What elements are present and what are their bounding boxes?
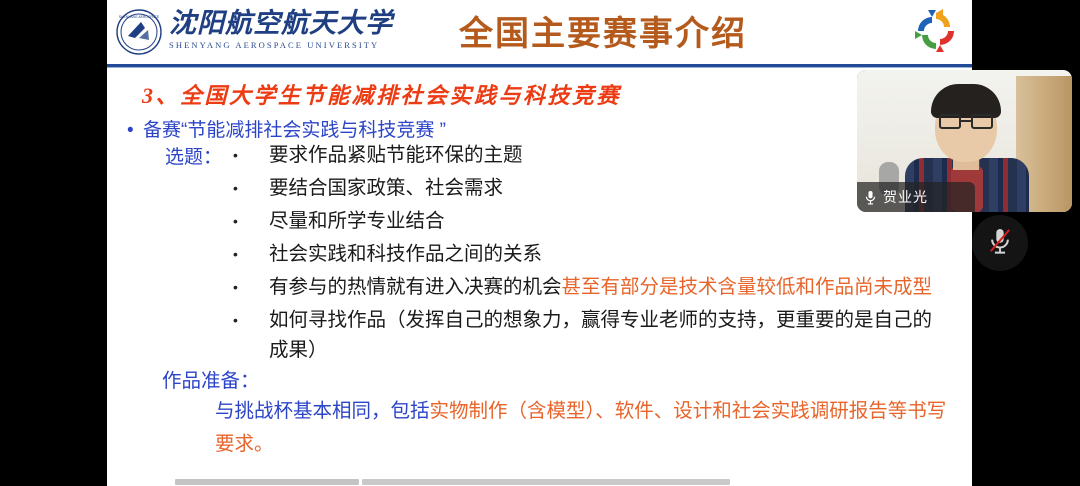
list-item-text: 要求作品紧贴节能环保的主题 (269, 140, 523, 170)
list-item-text: 要结合国家政策、社会需求 (269, 173, 503, 203)
screen-root: SHENYANG AEROSPACE 沈阳航空航天大学 SHENYANG AER… (0, 0, 1080, 486)
presentation-slide[interactable]: SHENYANG AEROSPACE 沈阳航空航天大学 SHENYANG AER… (107, 0, 972, 462)
list-item: • 要结合国家政策、社会需求 (227, 173, 947, 203)
participant-name-bar: 贺业光 (857, 182, 975, 212)
svg-text:SHENYANG AEROSPACE: SHENYANG AEROSPACE (119, 15, 160, 19)
participant-video-tile[interactable]: 贺业光 (857, 70, 1072, 212)
university-name-en: SHENYANG AEROSPACE UNIVERSITY (169, 40, 447, 50)
university-name-cn: 沈阳航空航天大学 (169, 8, 447, 39)
mute-toggle-button[interactable] (972, 215, 1028, 271)
topic-label: 选题： (165, 142, 222, 169)
bullet-dot-icon: • (227, 206, 269, 236)
preparation-label: 作品准备： (162, 364, 260, 393)
list-item: • 要求作品紧贴节能环保的主题 (227, 140, 947, 170)
header-rule-thin (107, 67, 972, 68)
list-item-text: 有参与的热情就有进入决赛的机会甚至有部分是技术含量较低和作品尚未成型 (269, 272, 932, 302)
bottom-bar-right[interactable] (362, 479, 730, 485)
video-person-glasses (939, 114, 993, 129)
preparation-text-blue: 与挑战杯基本相同，包括 (215, 400, 430, 422)
bullet-dot-icon: • (227, 173, 269, 203)
slide-body: 3、全国大学生节能减排社会实践与科技竞赛 •备赛“节能减排社会实践与科技竞赛 ”… (107, 70, 972, 462)
bullet-lead-text: 备赛“节能减排社会实践与科技竞赛 ” (143, 120, 446, 141)
microphone-muted-icon (988, 227, 1012, 260)
section-heading: 3、全国大学生节能减排社会实践与科技竞赛 (142, 78, 621, 110)
pinwheel-arrows-logo-icon (910, 5, 962, 57)
right-edge-letterbox (1074, 0, 1080, 486)
bullet-dot-icon: • (227, 239, 269, 269)
slide-title: 全国主要赛事介绍 (459, 6, 747, 55)
list-item: • 如何寻找作品（发挥自己的想象力，赢得专业老师的支持，更重要的是自己的成果） (227, 305, 947, 365)
participant-name: 贺业光 (883, 187, 928, 207)
bullet-dot-icon: • (227, 305, 269, 335)
university-name: 沈阳航空航天大学 SHENYANG AEROSPACE UNIVERSITY (169, 8, 447, 58)
bullet-dot-icon: • (227, 140, 269, 170)
list-item-text: 如何寻找作品（发挥自己的想象力，赢得专业老师的支持，更重要的是自己的成果） (269, 305, 947, 365)
bullet-dot-icon: • (227, 272, 269, 302)
list-item: • 尽量和所学专业结合 (227, 206, 947, 236)
list-item-text: 尽量和所学专业结合 (269, 206, 445, 236)
microphone-icon (857, 190, 883, 205)
list-item: • 社会实践和科技作品之间的关系 (227, 239, 947, 269)
video-person-hair (931, 84, 1001, 118)
preparation-text: 与挑战杯基本相同，包括实物制作（含模型）、软件、设计和社会实践调研报告等书写要求… (215, 395, 955, 461)
bullet-dot-icon: • (127, 120, 143, 142)
bullet-lead: •备赛“节能减排社会实践与科技竞赛 ” (127, 115, 446, 142)
slide-header: SHENYANG AEROSPACE 沈阳航空航天大学 SHENYANG AER… (107, 0, 972, 62)
list-item: • 有参与的热情就有进入决赛的机会甚至有部分是技术含量较低和作品尚未成型 (227, 272, 947, 302)
bottom-bar-left[interactable] (175, 479, 359, 485)
bullet-list: • 要求作品紧贴节能环保的主题 • 要结合国家政策、社会需求 • 尽量和所学专业… (227, 140, 947, 368)
list-item-text: 社会实践和科技作品之间的关系 (269, 239, 542, 269)
university-emblem-icon: SHENYANG AEROSPACE (115, 8, 163, 56)
